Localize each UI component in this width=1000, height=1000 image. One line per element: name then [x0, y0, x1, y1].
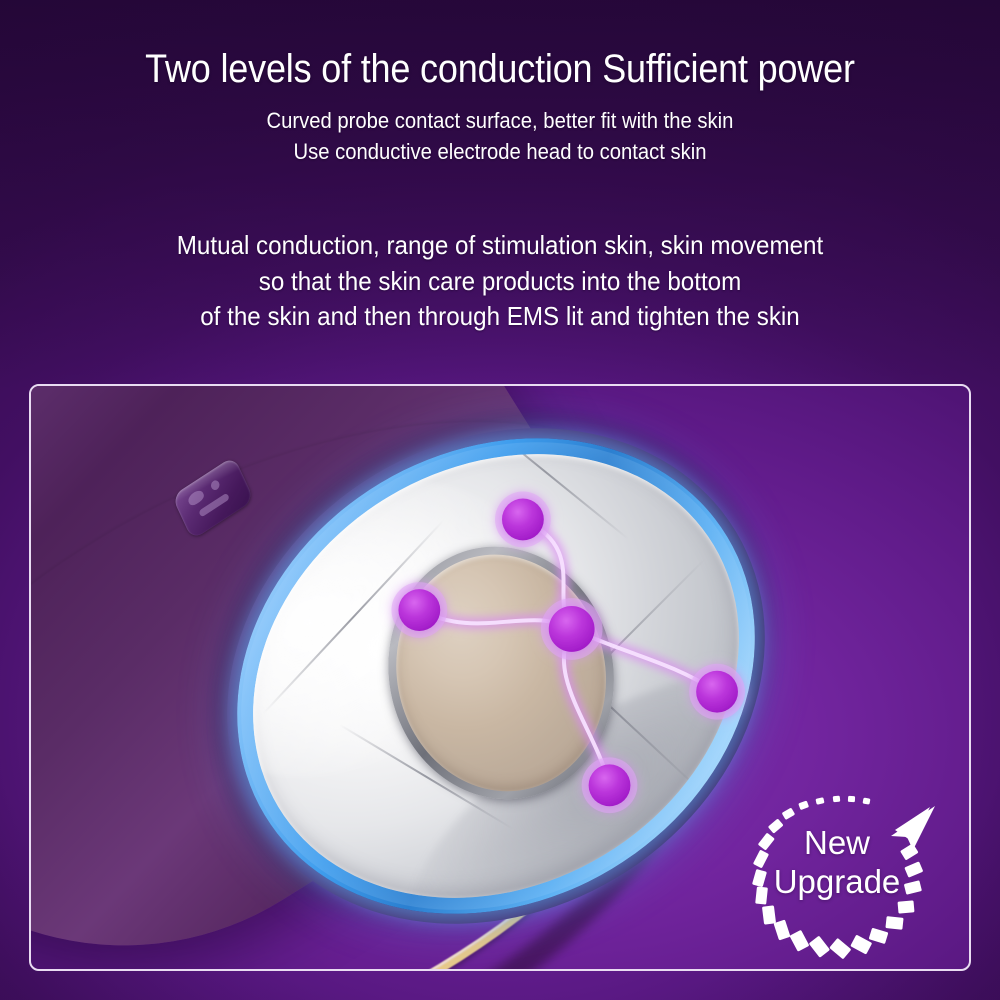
node-halo: [391, 492, 744, 814]
badge-label: New Upgrade: [737, 824, 937, 901]
page-title: Two levels of the conduction Sufficient …: [50, 0, 950, 91]
body-line-3: of the skin and then through EMS lit and…: [35, 299, 965, 335]
badge-line-1: New: [804, 824, 870, 861]
network-nodes: [391, 492, 744, 814]
node-bottom: [589, 764, 631, 806]
body-line-2: so that the skin care products into the …: [35, 264, 965, 300]
node-left: [398, 589, 440, 631]
marketing-copy: Two levels of the conduction Sufficient …: [0, 0, 1000, 335]
node-center: [549, 606, 595, 652]
subtitle-line-1: Curved probe contact surface, better fit…: [40, 105, 960, 136]
product-photo-frame: New Upgrade: [29, 384, 971, 971]
node-top: [502, 499, 544, 541]
subtitle-block: Curved probe contact surface, better fit…: [0, 105, 1000, 167]
node-right: [696, 671, 738, 713]
badge-line-2: Upgrade: [737, 863, 937, 902]
body-line-1: Mutual conduction, range of stimulation …: [35, 228, 965, 264]
new-upgrade-badge: New Upgrade: [737, 790, 937, 968]
subtitle-line-2: Use conductive electrode head to contact…: [40, 136, 960, 167]
body-block: Mutual conduction, range of stimulation …: [0, 228, 1000, 336]
product-marketing-image: Two levels of the conduction Sufficient …: [0, 0, 1000, 1000]
